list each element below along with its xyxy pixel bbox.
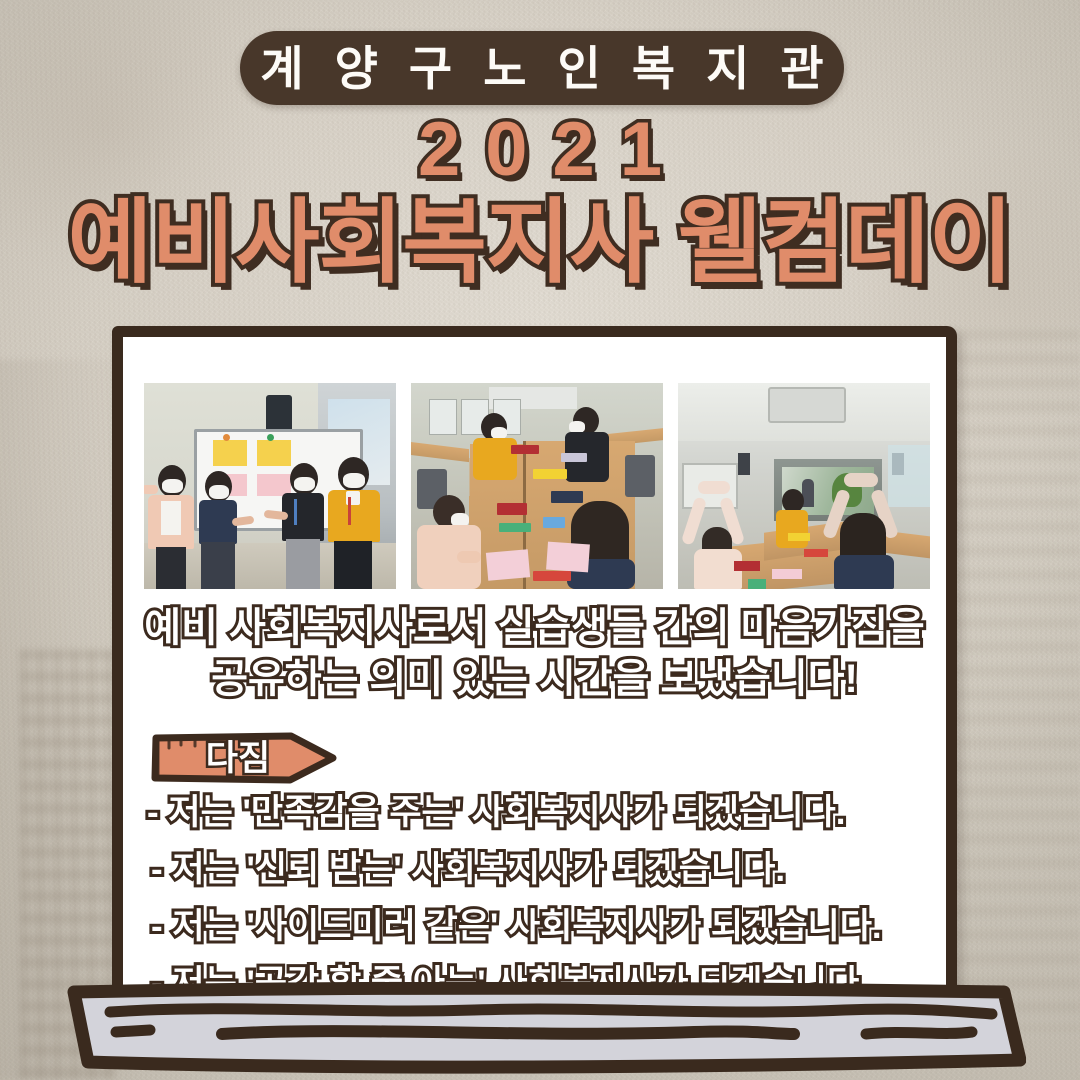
pledge-item: - 저는 '신뢰 받는' 사회복지사가 되겠습니다. (147, 846, 937, 894)
pledge-item: - 저는 '만족감을 주는' 사회복지사가 되겠습니다. (147, 789, 937, 837)
poster-title: 예비사회복지사 웰컴데이 (0, 194, 1080, 293)
poster-year: 2021 (0, 112, 1080, 188)
body-line-1: 예비 사회복지사로서 실습생들 간의 마음가짐을 (123, 603, 946, 654)
content-card: 예비 사회복지사로서 실습생들 간의 마음가짐을 공유하는 의미 있는 시간을 … (112, 326, 957, 1004)
pledge-item: - 저는 '사이드미러 같은' 사회복지사가 되겠습니다. (147, 903, 937, 951)
stand-icon (54, 982, 1026, 1074)
pledge-section-tag: 다짐 (151, 732, 337, 784)
title-block: 2021 예비사회복지사 웰컴데이 (0, 112, 1080, 293)
pledge-tag-label: 다짐 (151, 732, 299, 784)
poster-root: 계 양 구 노 인 복 지 관 2021 예비사회복지사 웰컴데이 (0, 0, 1080, 1080)
bottom-stand-shape (54, 982, 1026, 1074)
photo-heart-gesture (678, 383, 930, 589)
body-line-2: 공유하는 의미 있는 시간을 보냈습니다! (123, 654, 946, 705)
photo-whiteboard-group (144, 383, 396, 589)
body-paragraph: 예비 사회복지사로서 실습생들 간의 마음가짐을 공유하는 의미 있는 시간을 … (123, 603, 946, 705)
organization-badge: 계 양 구 노 인 복 지 관 (240, 31, 844, 105)
organization-badge-label: 계 양 구 노 인 복 지 관 (251, 45, 832, 92)
pledge-list: - 저는 '만족감을 주는' 사회복지사가 되겠습니다. - 저는 '신뢰 받는… (147, 789, 937, 1004)
photo-classroom-writing (411, 383, 663, 589)
photo-gallery (144, 383, 930, 589)
